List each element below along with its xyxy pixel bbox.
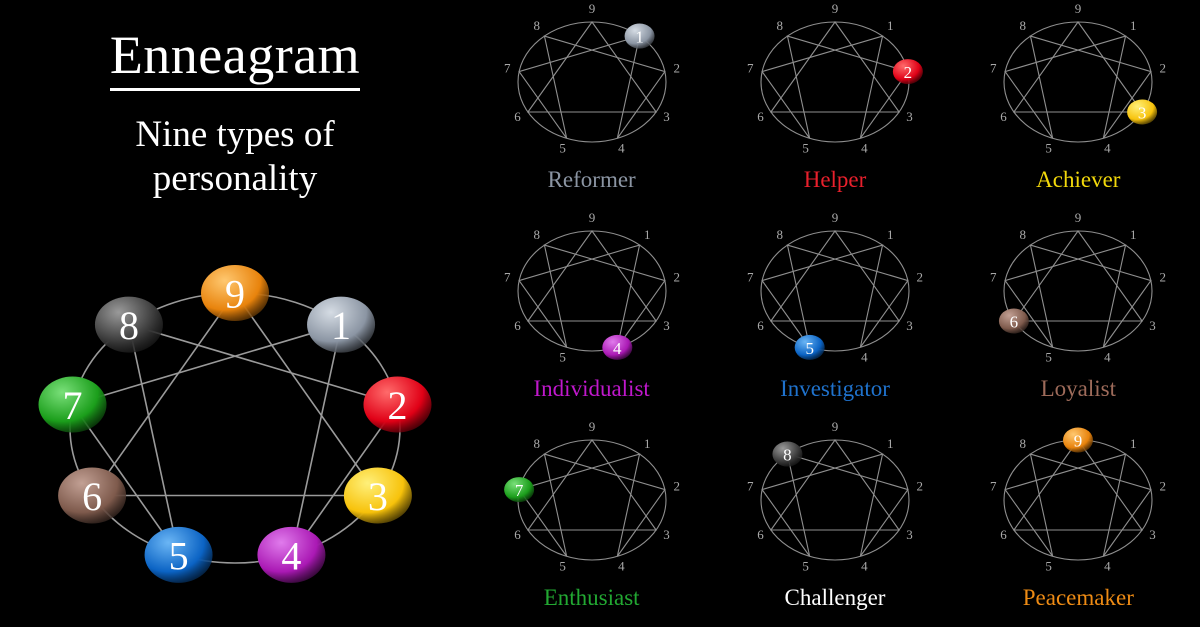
enneagram-sphere-number-5: 5	[169, 533, 189, 578]
enneagram-point-9[interactable]: 9	[1063, 428, 1093, 453]
enneagram-triangle	[1014, 440, 1142, 530]
enneagram-point-label-7: 7	[747, 60, 754, 75]
enneagram-point-label-6: 6	[1001, 527, 1008, 542]
enneagram-point-7[interactable]: 7	[504, 477, 534, 502]
enneagram-point-label-3: 3	[663, 109, 670, 124]
enneagram-point-label-4: 4	[1104, 350, 1111, 365]
enneagram-point-label-7: 7	[990, 269, 997, 284]
enneagram-point-label-2: 2	[673, 60, 680, 75]
type-enneagram-9: 123456789	[973, 424, 1183, 584]
enneagram-point-label-9: 9	[1075, 1, 1082, 16]
enneagram-sphere-number-8: 8	[119, 303, 139, 348]
enneagram-triangle	[1014, 22, 1142, 112]
enneagram-point-label-9: 9	[832, 1, 839, 16]
enneagram-point-label-1: 1	[1130, 436, 1137, 451]
subtitle-line-1: Nine types of	[60, 113, 410, 157]
type-label-9: Peacemaker	[1023, 586, 1134, 609]
enneagram-point-label-1: 1	[887, 436, 894, 451]
enneagram-point-label-8: 8	[1020, 436, 1027, 451]
enneagram-triangle	[1014, 231, 1142, 321]
page-title: Enneagram	[110, 28, 360, 91]
enneagram-point-label-1: 1	[1130, 18, 1137, 33]
enneagram-point-1[interactable]: 1	[624, 24, 654, 49]
enneagram-sphere-number-7: 7	[515, 481, 524, 500]
enneagram-hexad	[519, 36, 665, 138]
type-enneagram-6: 912345786	[973, 215, 1183, 375]
type-enneagram-3: 912456783	[973, 6, 1183, 166]
enneagram-point-label-5: 5	[802, 141, 809, 156]
enneagram-point-label-6: 6	[757, 109, 764, 124]
enneagram-point-label-3: 3	[906, 527, 913, 542]
page-subtitle: Nine types of personality	[0, 113, 470, 200]
type-label-3: Achiever	[1036, 168, 1120, 191]
enneagram-point-label-7: 7	[990, 60, 997, 75]
type-label-4: Individualist	[534, 377, 650, 400]
enneagram-point-label-5: 5	[559, 350, 566, 365]
subtitle-line-2: personality	[60, 157, 410, 201]
enneagram-hexad	[1005, 245, 1151, 347]
enneagram-triangle	[528, 440, 656, 530]
type-label-8: Challenger	[785, 586, 886, 609]
enneagram-point-label-5: 5	[1046, 350, 1053, 365]
enneagram-point-label-8: 8	[776, 227, 783, 242]
type-card-6[interactable]: 912345786Loyalist	[957, 209, 1200, 418]
enneagram-hexad	[1005, 36, 1151, 138]
enneagram-point-label-2: 2	[1160, 478, 1167, 493]
type-card-4[interactable]: 912356784Individualist	[470, 209, 713, 418]
enneagram-poster: Enneagram Nine types of personality 1234…	[0, 0, 1200, 627]
enneagram-hexad	[519, 245, 665, 347]
enneagram-hexad	[762, 36, 908, 138]
enneagram-hexad	[519, 454, 665, 556]
type-label-2: Helper	[804, 168, 867, 191]
type-label-6: Loyalist	[1041, 377, 1116, 400]
main-enneagram-svg: 123456789	[10, 258, 460, 598]
enneagram-sphere-number-2: 2	[387, 383, 407, 428]
enneagram-point-label-4: 4	[861, 559, 868, 574]
type-enneagram-2: 913456782	[730, 6, 940, 166]
type-enneagram-5: 912346785	[730, 215, 940, 375]
enneagram-point-label-2: 2	[673, 269, 680, 284]
enneagram-sphere-number-6: 6	[1010, 313, 1019, 332]
enneagram-point-7[interactable]: 7	[39, 377, 107, 433]
enneagram-point-1[interactable]: 1	[307, 297, 375, 353]
enneagram-sphere-number-5: 5	[805, 339, 814, 358]
enneagram-point-label-7: 7	[990, 478, 997, 493]
enneagram-point-label-5: 5	[559, 559, 566, 574]
type-label-5: Investigator	[780, 377, 890, 400]
enneagram-hexad	[73, 325, 398, 555]
enneagram-point-label-3: 3	[906, 318, 913, 333]
enneagram-point-label-5: 5	[1046, 559, 1053, 574]
enneagram-point-label-9: 9	[588, 419, 595, 434]
type-card-9[interactable]: 123456789Peacemaker	[957, 418, 1200, 627]
type-card-2[interactable]: 913456782Helper	[713, 0, 956, 209]
enneagram-point-label-1: 1	[644, 436, 651, 451]
main-enneagram-container: 123456789	[10, 258, 460, 598]
enneagram-point-label-8: 8	[533, 18, 540, 33]
enneagram-point-label-9: 9	[832, 419, 839, 434]
enneagram-point-label-4: 4	[618, 141, 625, 156]
type-label-1: Reformer	[548, 168, 636, 191]
enneagram-triangle	[771, 22, 899, 112]
type-label-7: Enthusiast	[544, 586, 640, 609]
type-enneagram-4: 912356784	[487, 215, 697, 375]
enneagram-point-label-6: 6	[757, 318, 764, 333]
enneagram-point-5[interactable]: 5	[795, 335, 825, 360]
enneagram-point-label-1: 1	[644, 227, 651, 242]
enneagram-sphere-number-3: 3	[368, 474, 388, 519]
enneagram-point-label-3: 3	[663, 318, 670, 333]
enneagram-point-label-6: 6	[514, 318, 521, 333]
enneagram-point-label-4: 4	[618, 559, 625, 574]
enneagram-point-label-7: 7	[747, 269, 754, 284]
enneagram-point-label-8: 8	[776, 18, 783, 33]
type-card-5[interactable]: 912346785Investigator	[713, 209, 956, 418]
enneagram-triangle	[771, 231, 899, 321]
enneagram-point-5[interactable]: 5	[145, 527, 213, 583]
enneagram-point-6[interactable]: 6	[58, 468, 126, 524]
type-card-7[interactable]: 912345687Enthusiast	[470, 418, 713, 627]
enneagram-point-label-6: 6	[514, 109, 521, 124]
left-panel: Enneagram Nine types of personality 1234…	[0, 0, 470, 627]
enneagram-point-3[interactable]: 3	[344, 468, 412, 524]
enneagram-point-3[interactable]: 3	[1127, 100, 1157, 125]
enneagram-circle	[761, 22, 909, 142]
enneagram-point-label-3: 3	[906, 109, 913, 124]
enneagram-point-label-6: 6	[514, 527, 521, 542]
enneagram-point-label-6: 6	[1001, 109, 1008, 124]
type-card-3[interactable]: 912456783Achiever	[957, 0, 1200, 209]
enneagram-point-label-7: 7	[504, 269, 511, 284]
types-grid: 923456781Reformer913456782Helper91245678…	[470, 0, 1200, 627]
enneagram-point-6[interactable]: 6	[999, 309, 1029, 334]
enneagram-circle	[518, 231, 666, 351]
enneagram-sphere-number-1: 1	[635, 28, 644, 47]
enneagram-point-label-3: 3	[1150, 527, 1157, 542]
enneagram-sphere-number-6: 6	[82, 474, 102, 519]
enneagram-point-label-8: 8	[1020, 227, 1027, 242]
enneagram-point-label-2: 2	[916, 269, 923, 284]
enneagram-point-label-2: 2	[1160, 60, 1167, 75]
enneagram-point-8[interactable]: 8	[772, 442, 802, 467]
enneagram-point-label-7: 7	[504, 60, 511, 75]
enneagram-hexad	[762, 454, 908, 556]
enneagram-point-label-8: 8	[533, 227, 540, 242]
enneagram-sphere-number-4: 4	[613, 339, 622, 358]
enneagram-point-label-4: 4	[1104, 141, 1111, 156]
enneagram-sphere-number-3: 3	[1138, 104, 1147, 123]
enneagram-sphere-number-9: 9	[1074, 432, 1083, 451]
enneagram-point-label-4: 4	[1104, 559, 1111, 574]
enneagram-point-4[interactable]: 4	[602, 335, 632, 360]
enneagram-point-label-9: 9	[588, 210, 595, 225]
enneagram-hexad	[1005, 454, 1151, 556]
enneagram-point-9[interactable]: 9	[201, 265, 269, 321]
enneagram-circle	[518, 440, 666, 560]
enneagram-point-label-5: 5	[559, 141, 566, 156]
enneagram-point-label-2: 2	[1160, 269, 1167, 284]
title-block: Enneagram Nine types of personality	[0, 28, 470, 200]
enneagram-sphere-number-8: 8	[783, 446, 792, 465]
enneagram-point-label-4: 4	[861, 350, 868, 365]
enneagram-sphere-number-2: 2	[904, 63, 913, 82]
type-enneagram-1: 923456781	[487, 6, 697, 166]
enneagram-point-2[interactable]: 2	[893, 59, 923, 84]
enneagram-sphere-number-7: 7	[63, 383, 83, 428]
enneagram-circle	[1004, 231, 1152, 351]
enneagram-circle	[1004, 22, 1152, 142]
enneagram-point-label-8: 8	[1020, 18, 1027, 33]
enneagram-point-label-9: 9	[588, 1, 595, 16]
type-card-8[interactable]: 912345678Challenger	[713, 418, 956, 627]
enneagram-sphere-number-9: 9	[225, 272, 245, 317]
enneagram-point-label-1: 1	[1130, 227, 1137, 242]
enneagram-point-label-6: 6	[757, 527, 764, 542]
enneagram-point-8[interactable]: 8	[95, 297, 163, 353]
type-enneagram-7: 912345687	[487, 424, 697, 584]
enneagram-point-label-1: 1	[887, 18, 894, 33]
enneagram-point-label-5: 5	[1046, 141, 1053, 156]
type-enneagram-8: 912345678	[730, 424, 940, 584]
enneagram-point-2[interactable]: 2	[363, 377, 431, 433]
enneagram-point-label-8: 8	[533, 436, 540, 451]
enneagram-point-label-3: 3	[663, 527, 670, 542]
enneagram-point-label-1: 1	[887, 227, 894, 242]
enneagram-point-label-9: 9	[832, 210, 839, 225]
enneagram-point-label-2: 2	[673, 478, 680, 493]
enneagram-point-label-9: 9	[1075, 210, 1082, 225]
type-card-1[interactable]: 923456781Reformer	[470, 0, 713, 209]
enneagram-triangle	[528, 231, 656, 321]
enneagram-circle	[761, 231, 909, 351]
enneagram-point-4[interactable]: 4	[257, 527, 325, 583]
enneagram-point-label-5: 5	[802, 559, 809, 574]
enneagram-point-label-3: 3	[1150, 318, 1157, 333]
enneagram-point-label-4: 4	[861, 141, 868, 156]
enneagram-sphere-number-4: 4	[281, 533, 301, 578]
enneagram-hexad	[762, 245, 908, 347]
enneagram-sphere-number-1: 1	[331, 303, 351, 348]
enneagram-point-label-7: 7	[747, 478, 754, 493]
enneagram-point-label-2: 2	[916, 478, 923, 493]
enneagram-circle	[1004, 440, 1152, 560]
